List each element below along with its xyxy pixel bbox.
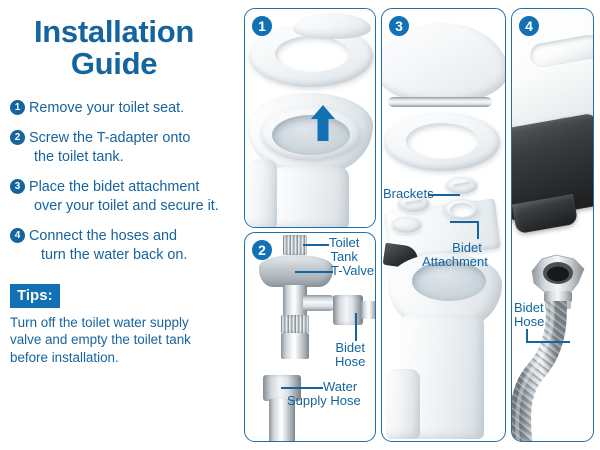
leader-bidet-hose <box>355 313 357 341</box>
step-4-line-2: turn the water back on. <box>29 246 232 265</box>
steps-list: 1 Remove your toilet seat. 2 Screw the T… <box>10 99 232 265</box>
step-panel-3: Brackets Bidet Attachment 3 <box>381 8 506 442</box>
label-bidet-attachment-line-1: Bidet <box>428 241 506 255</box>
label-brackets: Brackets <box>383 187 434 201</box>
panel-number-badge-1: 1 <box>251 15 273 37</box>
step-3-line-2: over your toilet and secure it. <box>29 197 232 216</box>
leader-t-valve <box>295 271 333 273</box>
step-item-1: 1 Remove your toilet seat. <box>10 99 232 118</box>
t-valve-side-outlet-icon <box>303 295 337 311</box>
toilet-seat-lifted-graphic <box>245 9 375 227</box>
label-bidet-hose-line-1: Bidet <box>335 341 365 355</box>
label-bidet-hose-p4: Bidet Hose <box>514 301 544 329</box>
label-bidet-hose: Bidet Hose <box>335 341 365 369</box>
bidet-hose-stub-icon <box>361 301 376 319</box>
page-title-line-1: Installation <box>34 14 194 49</box>
label-bidet-hose-line-2: Hose <box>335 355 365 369</box>
step-text-2: Screw the T-adapter onto the toilet tank… <box>29 129 232 167</box>
label-brackets-line-1: Brackets <box>383 187 434 201</box>
panel-number-badge-4: 4 <box>518 15 540 37</box>
step-number-badge-4: 4 <box>10 228 25 243</box>
panel-1-illustration <box>245 9 375 227</box>
step-panel-2: Toilet Tank T-Valve Bidet Hose Water Sup… <box>244 232 376 442</box>
t-valve-stem-thread-icon <box>281 315 309 333</box>
leader-bidet-hose-p4-v <box>526 329 528 342</box>
label-t-valve-line-1: T-Valve <box>331 264 374 278</box>
step-panel-1: 1 <box>244 8 376 228</box>
t-valve-lower-thread-icon <box>281 333 309 359</box>
step-number-badge-2: 2 <box>10 130 25 145</box>
toilet-seat-opening-icon <box>275 36 349 72</box>
label-water-supply-hose: Water Supply Hose <box>323 380 361 408</box>
page-title-line-2: Guide <box>10 48 218 80</box>
leader-bidet-hose-p4 <box>526 341 570 343</box>
step-1-line-1: Remove your toilet seat. <box>29 99 232 118</box>
panel-number-badge-3: 3 <box>388 15 410 37</box>
step-text-1: Remove your toilet seat. <box>29 99 232 118</box>
leader-bidet-attachment-h <box>450 221 479 223</box>
toilet-lid-hinge-icon <box>293 13 371 39</box>
tips-line-1: Turn off the toilet water supply <box>10 314 232 331</box>
leader-water-supply-hose <box>281 387 323 389</box>
tips-line-2: valve and empty the toilet tank <box>10 331 232 348</box>
label-bidet-hose-p4-line-2: Hose <box>514 315 544 329</box>
step-panel-4: Bidet Hose 4 <box>511 8 594 442</box>
bidet-hose-nut-icon <box>333 295 363 325</box>
step-item-4: 4 Connect the hoses and turn the water b… <box>10 227 232 265</box>
label-water-supply-line-2: Supply Hose <box>287 394 361 408</box>
label-water-supply-line-1: Water <box>323 380 361 394</box>
label-toilet-tank-line-1: Toilet <box>329 236 359 250</box>
step-2-line-2: the toilet tank. <box>29 148 232 167</box>
tips-badge: Tips: <box>10 284 60 308</box>
lid-hinge-bar-icon <box>388 97 492 107</box>
label-bidet-attachment: Bidet Attachment <box>428 241 506 269</box>
attachment-hole-inner-icon <box>450 203 474 217</box>
step-2-line-1: Screw the T-adapter onto <box>29 129 232 148</box>
toilet-seat-opening-icon <box>406 123 478 159</box>
label-toilet-tank: Toilet Tank <box>329 236 359 264</box>
label-bidet-hose-p4-line-1: Bidet <box>514 301 544 315</box>
step-3-line-1: Place the bidet attachment <box>29 178 232 197</box>
label-t-valve: T-Valve <box>331 264 374 278</box>
step-number-badge-3: 3 <box>10 179 25 194</box>
label-bidet-attachment-line-2: Attachment <box>404 255 506 269</box>
label-toilet-tank-line-2: Tank <box>329 250 359 264</box>
step-text-4: Connect the hoses and turn the water bac… <box>29 227 232 265</box>
panel-3-illustration <box>382 9 505 441</box>
panel-number-badge-2: 2 <box>251 239 273 261</box>
page-title: Installation Guide <box>10 10 232 79</box>
lift-up-arrow-icon <box>311 105 335 141</box>
tips-line-3: before installation. <box>10 349 232 366</box>
instructions-column: Installation Guide 1 Remove your toilet … <box>0 0 240 450</box>
step-item-2: 2 Screw the T-adapter onto the toilet ta… <box>10 129 232 167</box>
toilet-base-side-graphic <box>247 159 277 228</box>
toilet-base-foot-graphic <box>386 369 420 439</box>
step-item-3: 3 Place the bidet attachment over your t… <box>10 178 232 216</box>
tips-body: Turn off the toilet water supply valve a… <box>10 314 232 365</box>
leader-toilet-tank <box>303 244 329 246</box>
step-4-line-1: Connect the hoses and <box>29 227 232 246</box>
leader-bidet-attachment-v <box>477 221 479 239</box>
bracket-disc-bottom-left-icon <box>392 217 422 234</box>
panel-4-illustration <box>512 9 593 441</box>
step-number-badge-1: 1 <box>10 100 25 115</box>
toilet-pedestal-graphic <box>271 167 349 228</box>
step-text-3: Place the bidet attachment over your toi… <box>29 178 232 216</box>
installation-guide-page: Installation Guide 1 Remove your toilet … <box>0 0 600 450</box>
